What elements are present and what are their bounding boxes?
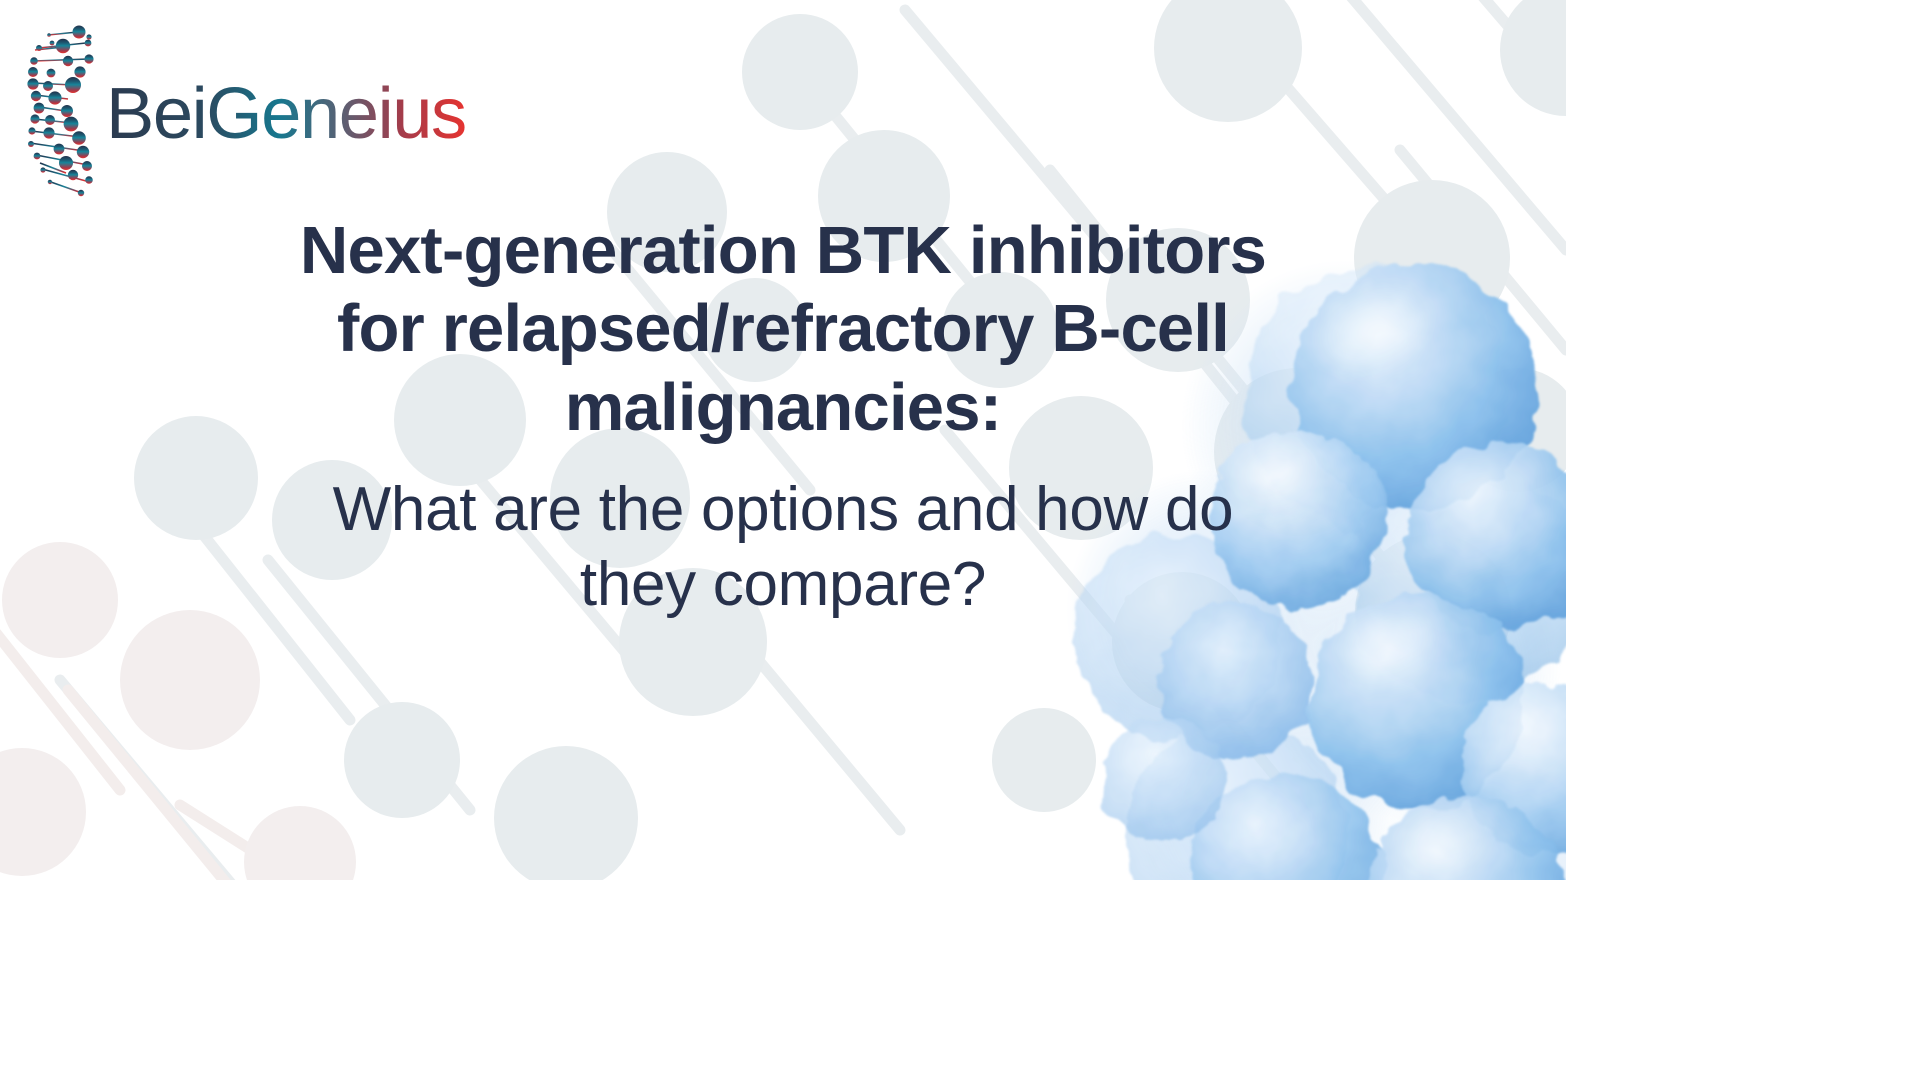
subtitle-line-2: they compare? [580,550,986,619]
title-line-3: malignancies: [565,370,1001,445]
dna-helix-icon [26,23,104,201]
title-line-1: Next-generation BTK inhibitors [300,213,1266,288]
brand-logo[interactable]: BeiGeneius [26,22,468,202]
title-line-2: for relapsed/refractory B-cell [337,291,1229,366]
brand-wordmark-text: BeiGeneius [106,75,466,154]
brand-wordmark: BeiGeneius [106,75,468,155]
page-subtitle: What are the options and how do they com… [168,473,1398,622]
title-slide: BeiGeneius Next-generation BTK inhibitor… [0,0,1566,880]
page-title: Next-generation BTK inhibitors for relap… [168,212,1398,447]
pattern-stems-pink [0,600,330,880]
subtitle-line-1: What are the options and how do [333,475,1234,544]
headline-block: Next-generation BTK inhibitors for relap… [0,212,1566,622]
